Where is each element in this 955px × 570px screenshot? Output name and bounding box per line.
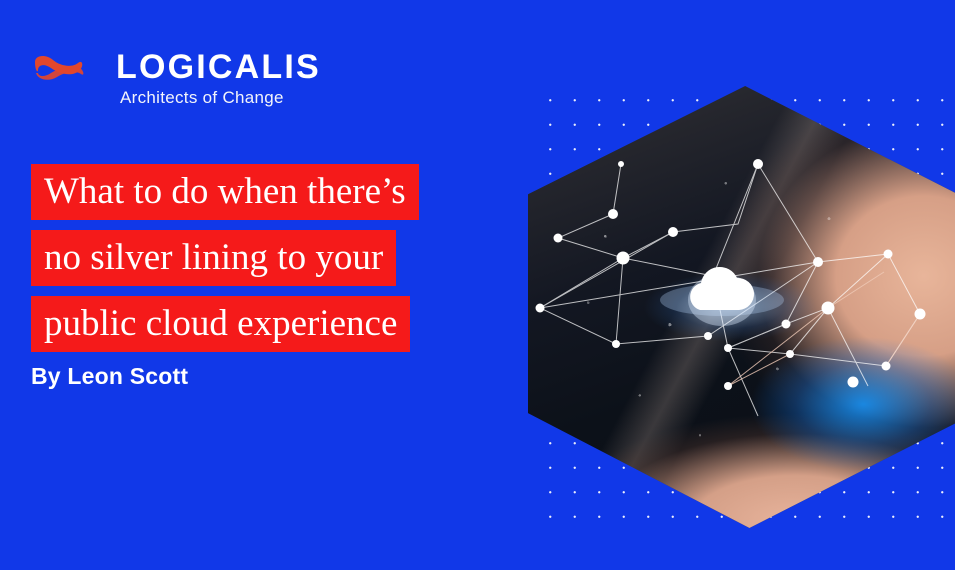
headline-line-3: public cloud experience <box>31 296 410 352</box>
byline: By Leon Scott <box>31 363 188 390</box>
brand-tagline: Architects of Change <box>120 87 284 109</box>
blog-header-banner: LOGICALIS Architects of Change What to d… <box>0 0 955 570</box>
cloud-icon <box>660 267 784 326</box>
logicalis-infinity-wave-icon <box>32 53 86 83</box>
page-title: What to do when there’s no silver lining… <box>31 164 419 362</box>
headline-line-2: no silver lining to your <box>31 230 396 286</box>
brand-wordmark: LOGICALIS <box>116 47 321 87</box>
brand-logo[interactable]: LOGICALIS Architects of Change <box>32 47 452 109</box>
headline-line-1: What to do when there’s <box>31 164 419 220</box>
